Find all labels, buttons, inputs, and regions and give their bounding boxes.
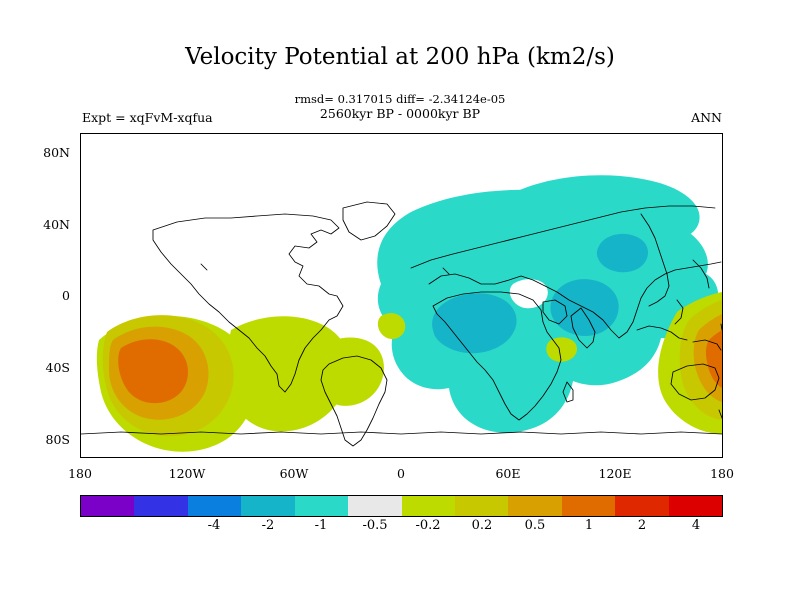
colorbar-swatch-8 (508, 496, 561, 516)
contour-map (81, 134, 722, 457)
colorbar-tick-4: 4 (676, 518, 716, 533)
figure-canvas: Velocity Potential at 200 hPa (km2/s) rm… (0, 0, 800, 600)
colorbar (80, 495, 723, 517)
colorbar-swatch-9 (562, 496, 615, 516)
experiment-label: Expt = xqFvM-xqfua (82, 110, 213, 125)
colorbar-swatch-3 (241, 496, 294, 516)
page-title: Velocity Potential at 200 hPa (km2/s) (0, 44, 800, 70)
colorbar-swatch-6 (402, 496, 455, 516)
colorbar-swatch-4 (295, 496, 348, 516)
colorbar-tick-05: 0.5 (515, 518, 555, 533)
colorbar-tick-1: 1 (569, 518, 609, 533)
colorbar-tick--05: -0.5 (355, 518, 395, 533)
colorbar-tick-2: 2 (622, 518, 662, 533)
x-tick-180w: 180 (50, 466, 110, 481)
y-tick-40s: 40S (24, 360, 70, 375)
colorbar-tick--02: -0.2 (408, 518, 448, 533)
colorbar-swatch-2 (188, 496, 241, 516)
colorbar-swatch-0 (81, 496, 134, 516)
y-tick-40n: 40N (24, 217, 70, 232)
stats-line: rmsd= 0.317015 diff= -2.34124e-05 (0, 92, 800, 106)
y-tick-0: 0 (24, 288, 70, 303)
contour-negative-05-eastasia (597, 234, 648, 272)
colorbar-swatch-11 (669, 496, 722, 516)
colorbar-tick--2: -2 (248, 518, 288, 533)
x-tick-120e: 120E (585, 466, 645, 481)
colorbar-swatch-5 (348, 496, 401, 516)
map-plot-area (80, 133, 723, 458)
season-label: ANN (691, 110, 722, 125)
colorbar-tick-02: 0.2 (462, 518, 502, 533)
x-tick-60e: 60E (478, 466, 538, 481)
colorbar-swatch-1 (134, 496, 187, 516)
colorbar-tick--4: -4 (194, 518, 234, 533)
colorbar-tick--1: -1 (301, 518, 341, 533)
x-tick-0: 0 (371, 466, 431, 481)
colorbar-swatch-7 (455, 496, 508, 516)
x-tick-180e: 180 (692, 466, 752, 481)
colorbar-swatch-10 (615, 496, 668, 516)
y-tick-80n: 80N (24, 145, 70, 160)
colorbar-ticks: -4 -2 -1 -0.5 -0.2 0.2 0.5 1 2 4 (80, 518, 723, 538)
x-tick-120w: 120W (157, 466, 217, 481)
y-tick-80s: 80S (24, 432, 70, 447)
x-tick-60w: 60W (264, 466, 324, 481)
